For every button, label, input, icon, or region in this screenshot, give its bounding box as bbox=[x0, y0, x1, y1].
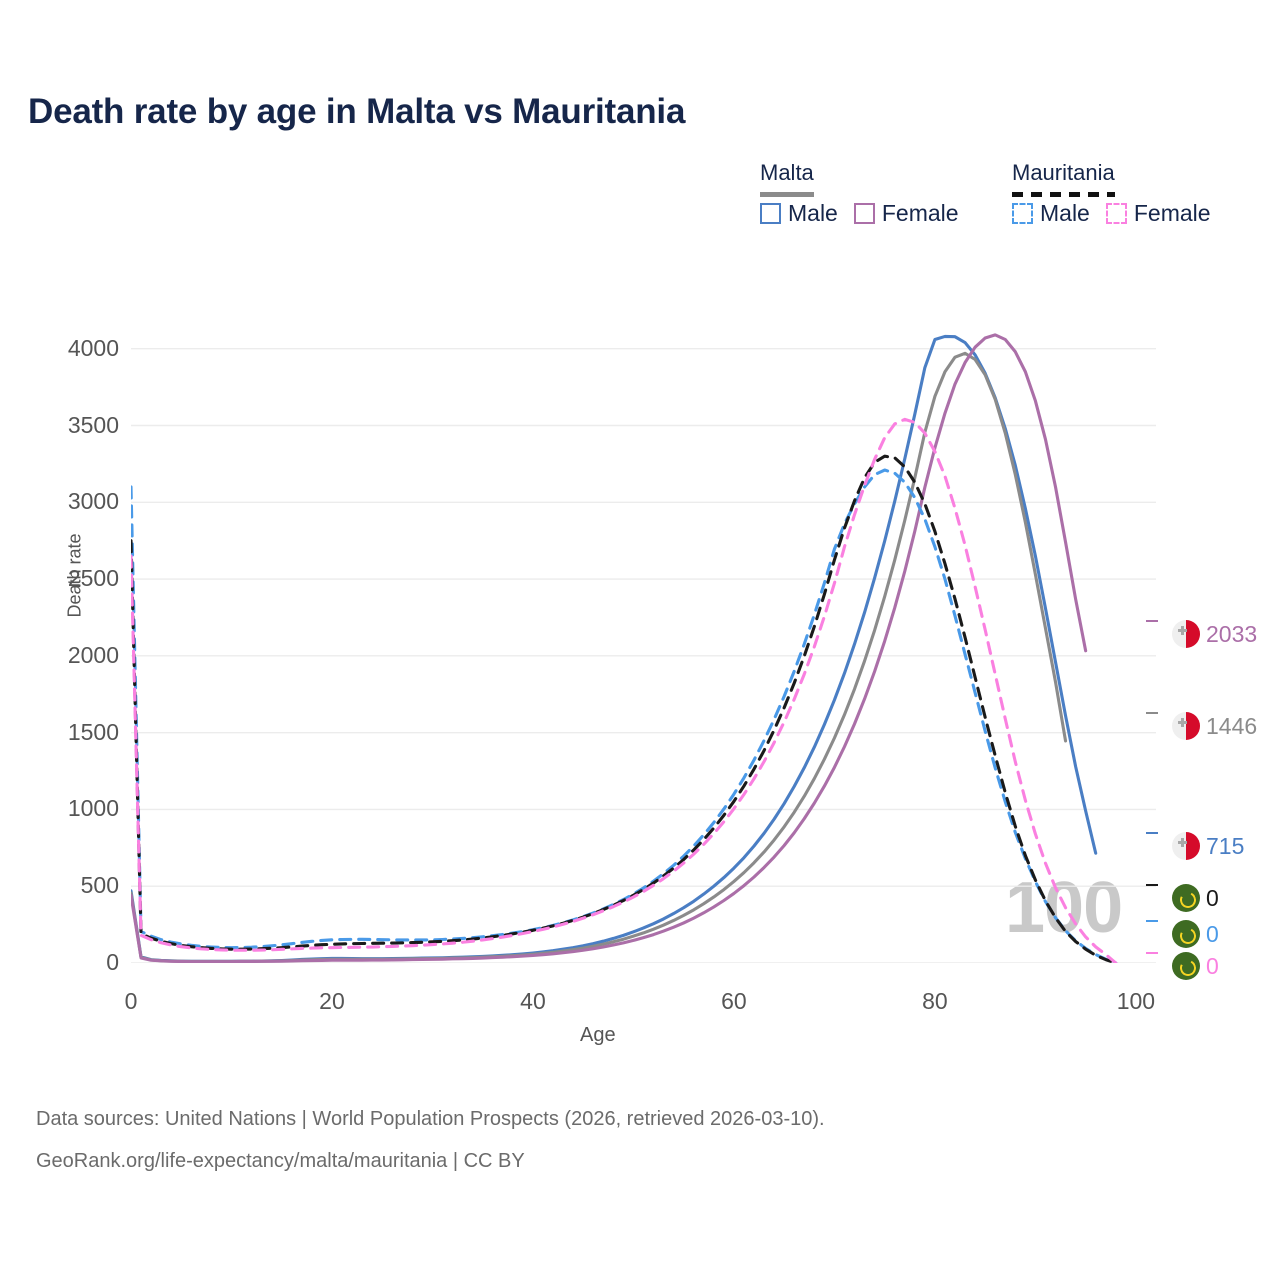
x-axis-tick-label: 40 bbox=[520, 988, 546, 1015]
legend-group-mauritania: Mauritania Male Female bbox=[1012, 160, 1115, 197]
x-axis-tick-label: 100 bbox=[1117, 988, 1155, 1015]
series-line-malta-total bbox=[131, 353, 1066, 961]
series-end-value: 0 bbox=[1206, 921, 1219, 948]
series-end-value: 0 bbox=[1206, 885, 1219, 912]
series-end-label: 0 bbox=[1172, 920, 1219, 948]
y-axis-tick-label: 4000 bbox=[68, 335, 119, 362]
footer-line-1: Data sources: United Nations | World Pop… bbox=[36, 1108, 825, 1131]
x-axis-tick-label: 0 bbox=[125, 988, 138, 1015]
series-end-value: 0 bbox=[1206, 953, 1219, 980]
series-line-mauritania-male bbox=[131, 470, 1116, 963]
y-axis-tick-label: 1000 bbox=[68, 795, 119, 822]
chart-legend: Malta Male Female Mauritania bbox=[760, 160, 1260, 242]
series-line-malta-female bbox=[131, 335, 1086, 962]
legend-item-malta-female[interactable]: Female bbox=[854, 200, 959, 227]
legend-label-malta-male: Male bbox=[788, 200, 838, 227]
y-axis-tick-label: 2500 bbox=[68, 565, 119, 592]
end-label-connector bbox=[1146, 712, 1158, 714]
y-axis-tick-label: 1500 bbox=[68, 719, 119, 746]
crescent-icon bbox=[1178, 926, 1198, 946]
legend-rule-malta bbox=[760, 192, 814, 197]
malta-cross-icon bbox=[1178, 838, 1187, 847]
crescent-icon bbox=[1178, 958, 1198, 978]
legend-country-label-mauritania: Mauritania bbox=[1012, 160, 1115, 190]
legend-item-malta-male[interactable]: Male bbox=[760, 200, 838, 227]
legend-group-malta: Malta Male Female bbox=[760, 160, 814, 197]
malta-cross-icon bbox=[1178, 718, 1187, 727]
footer-line-2: GeoRank.org/life-expectancy/malta/maurit… bbox=[36, 1150, 525, 1173]
series-end-label: 0 bbox=[1172, 884, 1219, 912]
page-title: Death rate by age in Malta vs Mauritania bbox=[28, 92, 685, 132]
series-end-label: 715 bbox=[1172, 832, 1244, 860]
end-label-connector bbox=[1146, 832, 1158, 834]
malta-flag-icon bbox=[1172, 712, 1200, 740]
x-axis-tick-label: 60 bbox=[721, 988, 747, 1015]
y-axis-tick-label: 3500 bbox=[68, 412, 119, 439]
end-label-connector bbox=[1146, 884, 1158, 886]
series-line-mauritania-female bbox=[131, 419, 1116, 963]
x-axis-title: Age bbox=[580, 1024, 616, 1047]
end-label-connector bbox=[1146, 920, 1158, 922]
series-end-value: 2033 bbox=[1206, 621, 1257, 648]
chart-root: Death rate by age in Malta vs Mauritania… bbox=[0, 0, 1280, 1280]
y-axis-tick-label: 500 bbox=[81, 872, 119, 899]
malta-flag-icon bbox=[1172, 620, 1200, 648]
legend-swatch-icon-malta-male bbox=[760, 203, 781, 224]
series-end-value: 715 bbox=[1206, 833, 1244, 860]
end-label-connector bbox=[1146, 952, 1158, 954]
x-axis-tick-label: 20 bbox=[319, 988, 345, 1015]
series-end-value: 1446 bbox=[1206, 713, 1257, 740]
series-end-label: 1446 bbox=[1172, 712, 1257, 740]
legend-label-mauritania-male: Male bbox=[1040, 200, 1090, 227]
plot-area bbox=[131, 318, 1156, 963]
y-axis-tick-label: 3000 bbox=[68, 488, 119, 515]
legend-label-mauritania-female: Female bbox=[1134, 200, 1211, 227]
malta-cross-icon bbox=[1178, 626, 1187, 635]
series-end-labels: 20331446715000 bbox=[1158, 300, 1280, 1000]
legend-swatch-icon-mauritania-male bbox=[1012, 203, 1033, 224]
mauritania-flag-icon bbox=[1172, 884, 1200, 912]
series-end-label: 2033 bbox=[1172, 620, 1257, 648]
y-axis-tick-label: 2000 bbox=[68, 642, 119, 669]
legend-swatch-icon-mauritania-female bbox=[1106, 203, 1127, 224]
end-label-connector bbox=[1146, 620, 1158, 622]
legend-item-mauritania-male[interactable]: Male bbox=[1012, 200, 1090, 227]
legend-rule-mauritania bbox=[1012, 192, 1115, 197]
legend-label-malta-female: Female bbox=[882, 200, 959, 227]
series-line-mauritania-total bbox=[131, 456, 1116, 963]
series-line-malta-male bbox=[131, 336, 1096, 961]
y-axis-tick-label: 0 bbox=[106, 949, 119, 976]
mauritania-flag-icon bbox=[1172, 952, 1200, 980]
legend-country-label-malta: Malta bbox=[760, 160, 814, 190]
mauritania-flag-icon bbox=[1172, 920, 1200, 948]
malta-flag-icon bbox=[1172, 832, 1200, 860]
x-axis-tick-label: 80 bbox=[922, 988, 948, 1015]
series-end-label: 0 bbox=[1172, 952, 1219, 980]
legend-swatch-icon-malta-female bbox=[854, 203, 875, 224]
legend-item-mauritania-female[interactable]: Female bbox=[1106, 200, 1211, 227]
crescent-icon bbox=[1178, 890, 1198, 910]
